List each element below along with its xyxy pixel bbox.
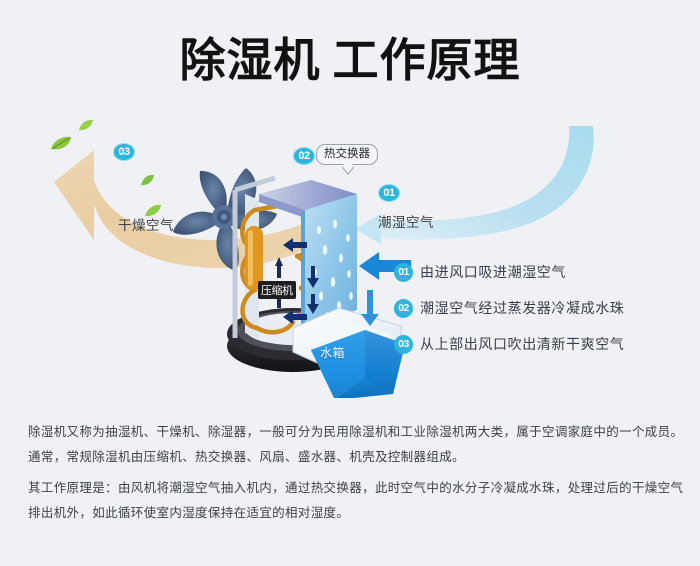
compressor-label: 压缩机	[258, 281, 296, 299]
description-p1-line2: 通常，常规除湿机由压缩机、热交换器、风扇、盛水器、机壳及控制器组成。	[28, 445, 680, 470]
legend-item-02: 02 潮湿空气经过蒸发器冷凝成水珠	[394, 290, 694, 326]
description-p2-line1: 其工作原理是：由风机将潮湿空气抽入机内，通过热交换器，此时空气中的水分子冷凝成水…	[28, 476, 680, 501]
legend-badge-01: 01	[394, 263, 413, 282]
description-paragraph-1: 除湿机又称为抽湿机、干燥机、除湿器，一般可分为民用除湿机和工业除湿机两大类，属于…	[28, 420, 680, 470]
description-p2-line2: 排出机外，如此循环使室内湿度保持在适宜的相对湿度。	[28, 501, 680, 526]
leaf-icon	[78, 119, 94, 132]
water-tank-label: 水箱	[320, 344, 345, 361]
legend-badge-02: 02	[394, 299, 413, 318]
page-title-main: 除湿机	[180, 34, 321, 86]
dry-air-label: 干燥空气	[118, 214, 174, 234]
leaf-icon	[50, 136, 72, 152]
page-title: 除湿机工作原理	[0, 30, 700, 90]
legend-badge-03: 03	[394, 335, 413, 354]
diagram-badge-02: 02	[293, 147, 315, 165]
legend-text-02: 潮湿空气经过蒸发器冷凝成水珠	[420, 298, 624, 318]
humid-air-label: 潮湿空气	[378, 211, 434, 231]
legend-text-03: 从上部出风口吹出清新干爽空气	[420, 334, 624, 354]
page-title-sub: 工作原理	[333, 34, 521, 86]
legend-item-01: 01 由进风口吸进潮湿空气	[394, 254, 694, 290]
diagram-badge-01: 01	[378, 184, 400, 202]
legend-list: 01 由进风口吸进潮湿空气 02 潮湿空气经过蒸发器冷凝成水珠 03 从上部出风…	[394, 254, 694, 362]
heat-exchanger-callout: 热交换器	[316, 144, 378, 165]
dehumidifier-unit	[215, 138, 415, 398]
legend-item-03: 03 从上部出风口吹出清新干爽空气	[394, 326, 694, 362]
description-paragraph-2: 其工作原理是：由风机将潮湿空气抽入机内，通过热交换器，此时空气中的水分子冷凝成水…	[28, 476, 680, 526]
legend-text-01: 由进风口吸进潮湿空气	[420, 262, 566, 282]
description-p1-line1: 除湿机又称为抽湿机、干燥机、除湿器，一般可分为民用除湿机和工业除湿机两大类，属于…	[28, 420, 680, 445]
leaf-icon	[140, 174, 155, 187]
diagram-badge-03: 03	[113, 143, 135, 161]
